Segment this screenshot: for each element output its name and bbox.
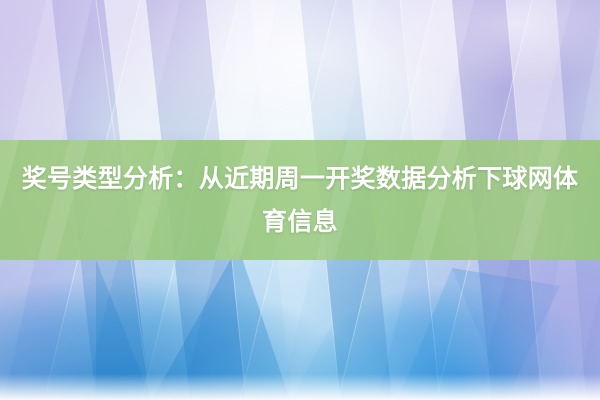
banner-title: 奖号类型分析：从近期周一开奖数据分析下球网体育信息 bbox=[10, 157, 590, 243]
article-banner: 奖号类型分析：从近期周一开奖数据分析下球网体育信息 bbox=[0, 0, 600, 400]
title-band: 奖号类型分析：从近期周一开奖数据分析下球网体育信息 bbox=[0, 140, 600, 260]
bottom-white-fade bbox=[0, 374, 600, 400]
